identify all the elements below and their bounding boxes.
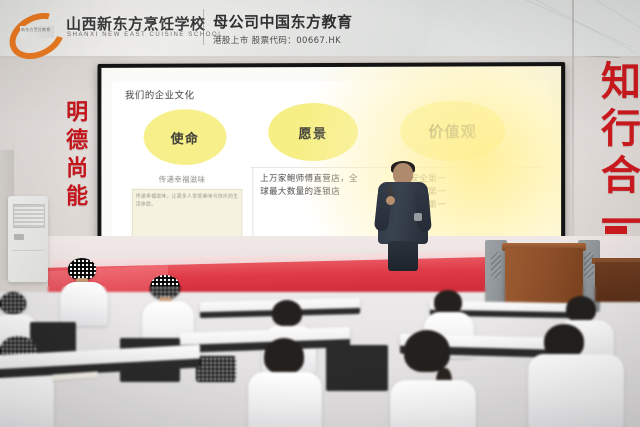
slide-bubble-mission: 使命 bbox=[144, 109, 227, 165]
checkered-cloth bbox=[196, 356, 236, 382]
slide-bubble-values: 价值观 bbox=[400, 101, 505, 161]
air-conditioner-panel bbox=[14, 234, 24, 240]
presenter-legs bbox=[388, 241, 418, 271]
air-conditioner-seam bbox=[12, 250, 44, 251]
slide-content: 我们的企业文化 使命 愿景 价值观 传递幸福滋味 传递幸福滋味，让更多人享受美味… bbox=[112, 80, 551, 246]
chef-cap bbox=[0, 292, 26, 314]
slide-column-divider bbox=[252, 167, 253, 241]
presenter-jacket-badge bbox=[414, 213, 422, 221]
student-chair bbox=[30, 322, 76, 354]
banner-gloss-streak bbox=[509, 0, 640, 56]
student-hair bbox=[434, 290, 462, 314]
school-logo-icon: 新东方烹饪教育 bbox=[2, 10, 64, 50]
stock-listing-info: 港股上市 股票代码：00667.HK bbox=[213, 34, 341, 46]
speaker-grill bbox=[491, 252, 501, 278]
logo-inner-label: 新东方烹饪教育 bbox=[21, 27, 50, 32]
student-hair bbox=[544, 324, 584, 358]
air-conditioner bbox=[8, 196, 48, 282]
header-divider bbox=[203, 9, 204, 45]
classroom-photo: 新东方烹饪教育 山西新东方烹饪学校 SHANXI NEW EAST CUISIN… bbox=[0, 0, 640, 427]
slide-column-heading-mission: 传递幸福滋味 bbox=[137, 173, 228, 186]
presentation-screen: 我们的企业文化 使命 愿景 价值观 传递幸福滋味 传递幸福滋味，让更多人享受美味… bbox=[97, 62, 565, 256]
chef-coat bbox=[60, 282, 108, 326]
chef-coat bbox=[528, 354, 624, 427]
school-name-english: SHANXI NEW EAST CUISINE SCHOOL bbox=[67, 32, 223, 38]
chef-cap bbox=[150, 275, 180, 299]
presenter bbox=[376, 163, 432, 271]
wall-calligraphy-left: 明德尚能 bbox=[63, 100, 86, 212]
wall-calligraphy-right: 知行合一 bbox=[596, 60, 638, 248]
student-chair bbox=[326, 345, 388, 391]
parent-company-name: 母公司中国东方教育 bbox=[213, 11, 353, 32]
slide-bubble-vision: 愿景 bbox=[268, 103, 358, 161]
presenter-right-arm bbox=[414, 187, 432, 232]
presenter-hand bbox=[386, 196, 395, 205]
chef-coat bbox=[248, 372, 322, 427]
student-hair bbox=[566, 296, 596, 322]
school-name: 山西新东方烹饪学校 bbox=[66, 13, 206, 34]
wall-calligraphy-underline bbox=[605, 226, 627, 234]
student-hair bbox=[264, 338, 304, 374]
slide-column-body-vision: 上万家鲍师傅直营店，全球最大数量的连锁店 bbox=[260, 173, 364, 199]
chef-coat bbox=[390, 380, 476, 427]
banner-gloss-streak bbox=[468, 0, 633, 48]
screen-display-area: 我们的企业文化 使命 愿景 价值观 传递幸福滋味 传递幸福滋味，让更多人享受美味… bbox=[101, 66, 561, 252]
slide-title: 我们的企业文化 bbox=[125, 87, 195, 101]
slide-column-body-mission: 传递幸福滋味，让更多人享受美味与快乐的生活体验。 bbox=[132, 189, 243, 241]
student-hair bbox=[404, 330, 450, 372]
side-cabinet bbox=[595, 262, 640, 302]
chef-cap bbox=[68, 258, 96, 280]
air-conditioner-vent bbox=[13, 204, 45, 228]
speaker-grill bbox=[584, 252, 594, 278]
banner-gloss-streak bbox=[549, 0, 640, 35]
